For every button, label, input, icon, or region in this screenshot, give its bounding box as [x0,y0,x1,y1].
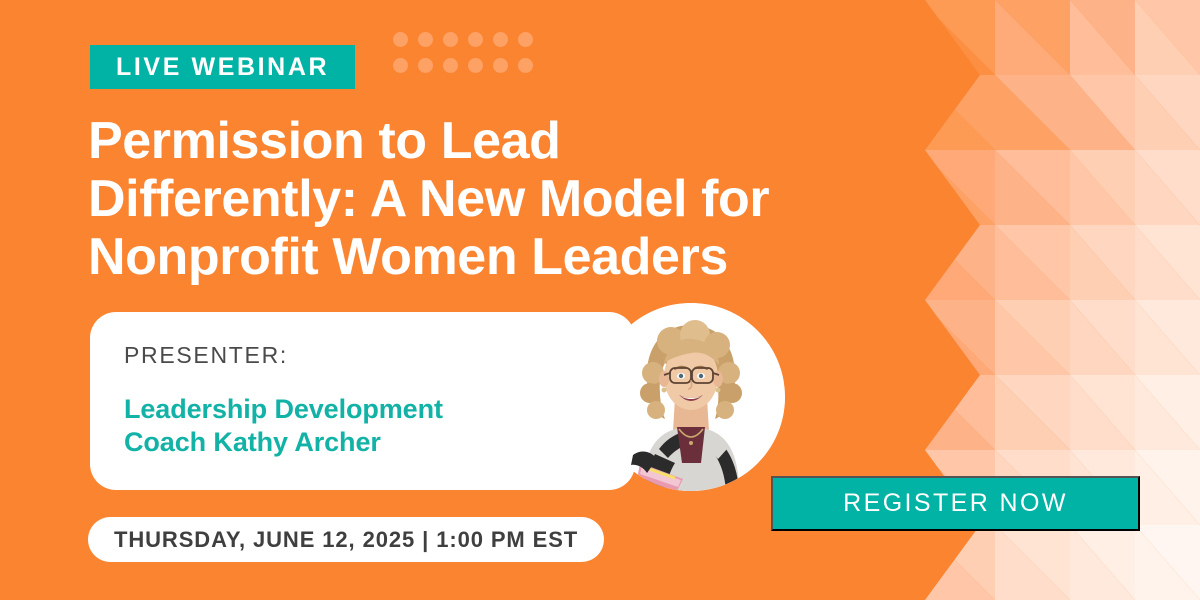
presenter-name-line-1: Leadership Development [124,393,635,426]
decorative-dot [443,58,458,73]
decorative-dot [493,32,508,47]
register-now-label: REGISTER NOW [843,489,1068,518]
headline-line-3: Nonprofit Women Leaders [88,228,968,286]
decorative-dot [393,32,408,47]
webinar-date-text: THURSDAY, JUNE 12, 2025 | 1:00 PM EST [114,527,578,553]
webinar-date-bar: THURSDAY, JUNE 12, 2025 | 1:00 PM EST [88,517,604,562]
presenter-label: PRESENTER: [124,342,635,369]
presenter-card: PRESENTER: Leadership Development Coach … [90,312,635,490]
decorative-dot [393,58,408,73]
decorative-dot [493,58,508,73]
register-now-button[interactable]: REGISTER NOW [771,476,1140,531]
decorative-dot [518,58,533,73]
headline-line-2: Differently: A New Model for [88,170,968,228]
presenter-name-line-2: Coach Kathy Archer [124,426,635,459]
dot-grid-decoration [393,32,543,84]
headline-line-1: Permission to Lead [88,112,968,170]
live-webinar-badge: LIVE WEBINAR [90,45,355,89]
decorative-dot [418,32,433,47]
live-webinar-badge-label: LIVE WEBINAR [116,53,329,82]
decorative-dot [518,32,533,47]
decorative-dot [418,58,433,73]
webinar-promo-banner: LIVE WEBINAR Permission to Lead Differen… [0,0,1200,600]
presenter-card-content: PRESENTER: Leadership Development Coach … [90,312,635,459]
decorative-dot [443,32,458,47]
decorative-dot [468,58,483,73]
decorative-dot [468,32,483,47]
headshot-svg [597,303,785,491]
presenter-headshot-illustration [597,303,785,491]
avatar [597,303,785,491]
page-title: Permission to Lead Differently: A New Mo… [88,112,968,287]
presenter-name: Leadership Development Coach Kathy Arche… [124,393,635,459]
